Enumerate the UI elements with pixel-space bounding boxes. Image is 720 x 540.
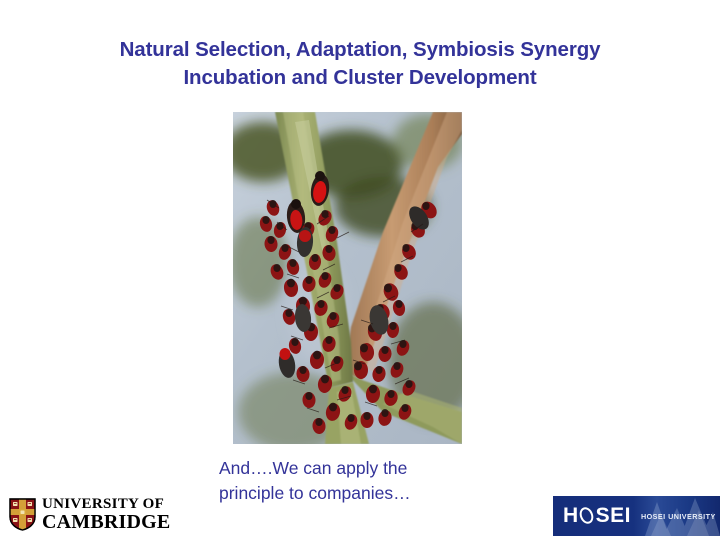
caption-line-1: And….We can apply the: [219, 456, 519, 481]
hosei-subtitle: HOSEI UNIVERSITY: [641, 512, 716, 521]
cambridge-wordmark: UNIVERSITY OF CAMBRIDGE: [42, 497, 170, 532]
insect-cluster-photo: [233, 112, 462, 444]
hosei-wordmark: H SEI: [563, 505, 631, 526]
slide-caption: And….We can apply the principle to compa…: [219, 456, 519, 507]
cambridge-line-2: CAMBRIDGE: [42, 512, 170, 532]
hosei-oval-icon: [579, 506, 596, 526]
hosei-letters-sei: SEI: [596, 505, 631, 526]
university-of-cambridge-logo: UNIVERSITY OF CAMBRIDGE: [9, 494, 174, 534]
hosei-letter-h: H: [563, 505, 579, 526]
slide-canvas: Natural Selection, Adaptation, Symbiosis…: [0, 0, 720, 540]
title-line-2: Incubation and Cluster Development: [50, 64, 670, 92]
title-line-1: Natural Selection, Adaptation, Symbiosis…: [50, 36, 670, 64]
page-title: Natural Selection, Adaptation, Symbiosis…: [50, 36, 670, 91]
cambridge-line-1: UNIVERSITY OF: [42, 497, 170, 512]
cambridge-crest-icon: [9, 498, 36, 531]
photo-illustration: [233, 112, 462, 444]
hosei-university-logo: H SEI HOSEI UNIVERSITY: [553, 496, 720, 536]
caption-line-2: principle to companies…: [219, 481, 519, 506]
